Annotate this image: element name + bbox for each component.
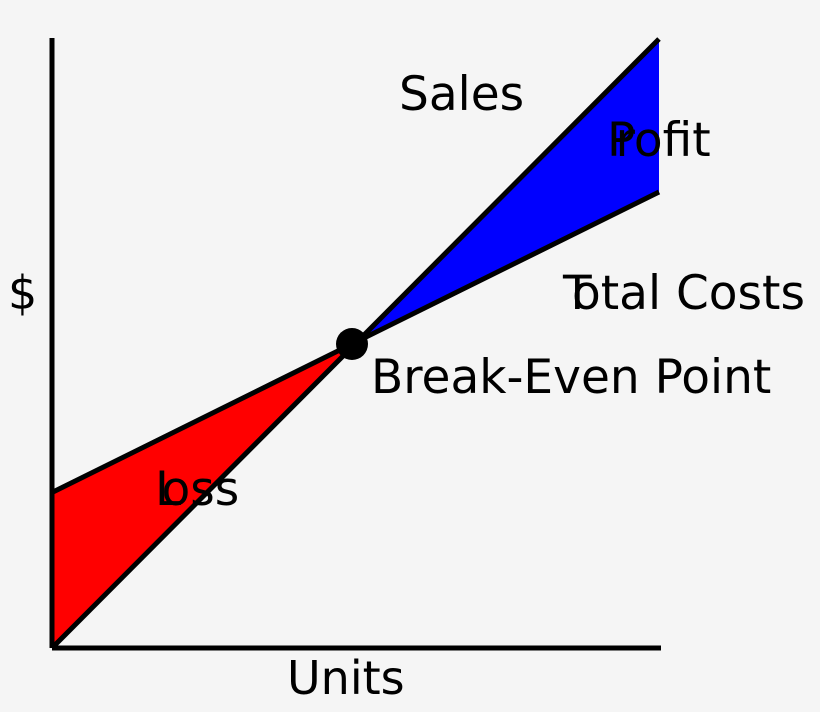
loss-region-label: Loss	[155, 466, 239, 513]
break-even-point-marker	[336, 328, 368, 360]
y-axis-label: $	[8, 270, 37, 316]
break-even-chart: $ Units Sales Profit Total Costs Break-E…	[0, 0, 820, 712]
break-even-point-label: Break-Even Point	[371, 354, 771, 401]
sales-line-label: Sales	[399, 71, 524, 118]
x-axis-label: Units	[287, 655, 405, 701]
total-costs-line-label: Total Costs	[563, 270, 805, 317]
profit-region-label: Profit	[607, 117, 711, 164]
